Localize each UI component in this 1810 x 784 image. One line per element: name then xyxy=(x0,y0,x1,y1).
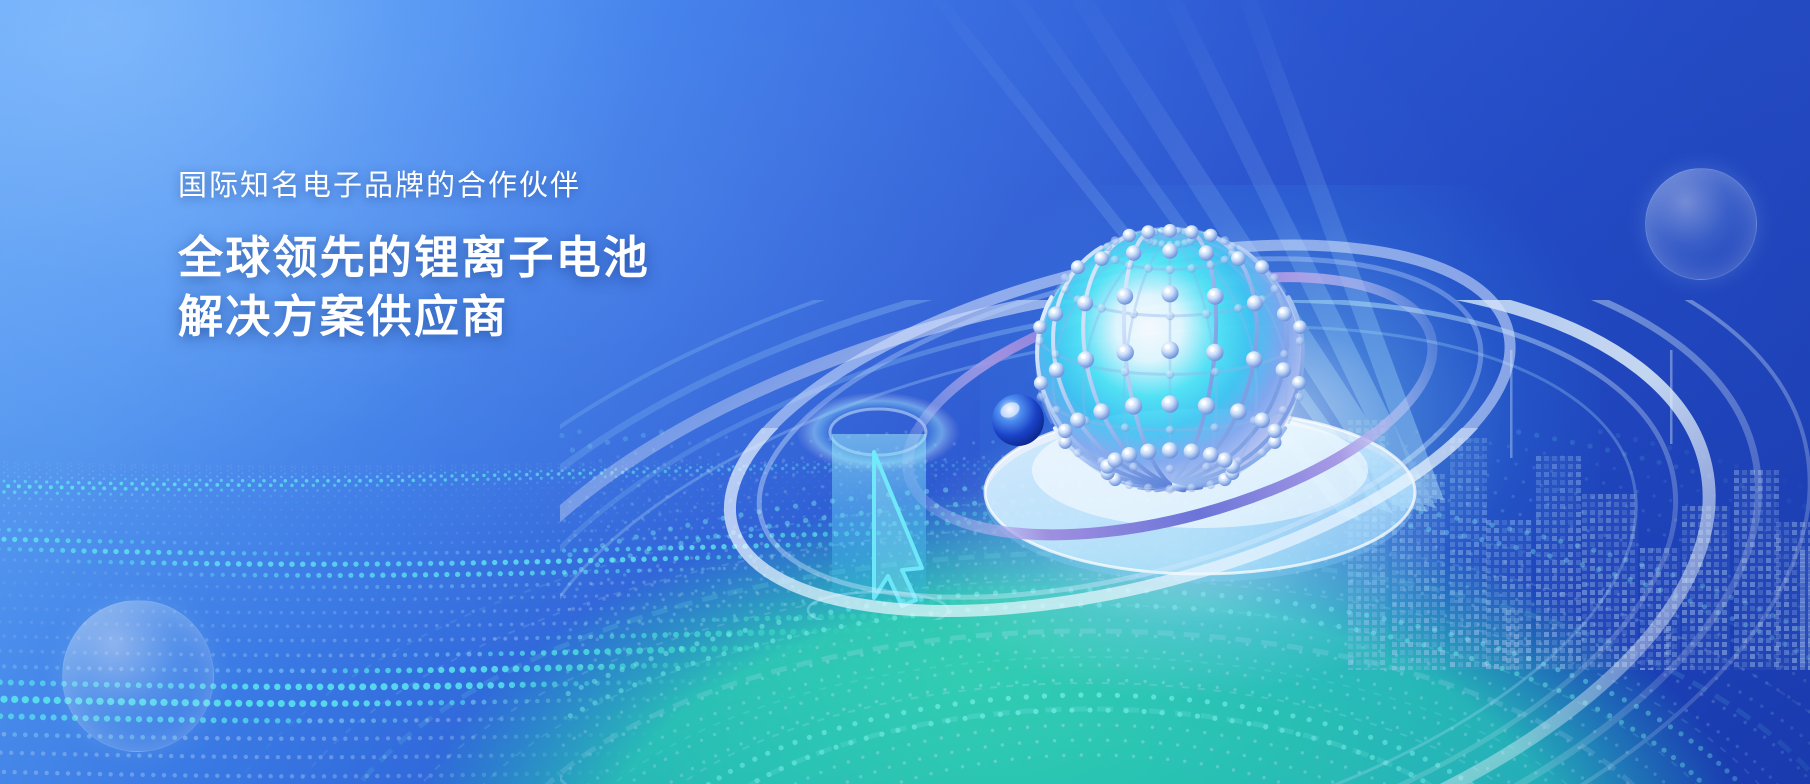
hero-banner: 国际知名电子品牌的合作伙伴 全球领先的锂离子电池 解决方案供应商 xyxy=(0,0,1810,784)
hero-copy: 国际知名电子品牌的合作伙伴 全球领先的锂离子电池 解决方案供应商 xyxy=(178,168,650,346)
eyebrow-text: 国际知名电子品牌的合作伙伴 xyxy=(178,168,650,206)
headline-line-1: 全球领先的锂离子电池 xyxy=(178,228,650,287)
accent-node xyxy=(992,394,1044,446)
headline-line-2: 解决方案供应商 xyxy=(178,287,650,346)
wireframe-globe-icon xyxy=(700,170,1600,730)
page-title: 全球领先的锂离子电池 解决方案供应商 xyxy=(178,228,650,347)
